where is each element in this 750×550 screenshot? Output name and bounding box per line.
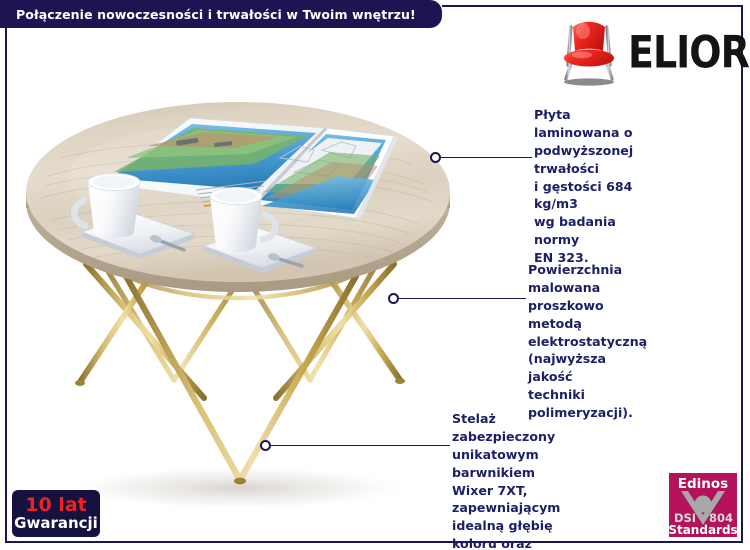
edinos-standards-badge: Edinos DSI 804 Standards bbox=[669, 473, 737, 537]
callout-text: Powierzchnia malowana proszkowo metodą e… bbox=[528, 261, 647, 422]
header-banner-text: Połączenie nowoczesności i trwałości w T… bbox=[16, 7, 416, 22]
product-infographic: Połączenie nowoczesności i trwałości w T… bbox=[0, 0, 750, 550]
edinos-standards-text: Standards bbox=[669, 523, 737, 537]
warranty-word: Gwarancji bbox=[14, 516, 98, 531]
edinos-brand-text: Edinos bbox=[678, 476, 728, 492]
callout-leader-line bbox=[270, 445, 450, 446]
callout-text: Stelaż zabezpieczony unikatowym barwniki… bbox=[452, 410, 560, 550]
brand-logo: ELIOR bbox=[556, 16, 734, 88]
product-photo bbox=[8, 80, 468, 530]
red-chair-icon bbox=[556, 17, 622, 87]
brand-name: ELIOR bbox=[628, 30, 749, 75]
warranty-badge: 10 lat Gwarancji bbox=[12, 490, 100, 537]
callout-leader-line bbox=[398, 298, 526, 299]
coffee-table-illustration bbox=[8, 80, 468, 530]
edinos-badge-icon: Edinos DSI 804 Standards bbox=[669, 473, 737, 537]
warranty-years: 10 lat bbox=[25, 496, 86, 515]
callout-text: Płyta laminowana o podwyższonej trwałośc… bbox=[534, 106, 633, 267]
header-banner: Połączenie nowoczesności i trwałości w T… bbox=[0, 0, 442, 28]
callout-leader-line bbox=[440, 157, 532, 158]
